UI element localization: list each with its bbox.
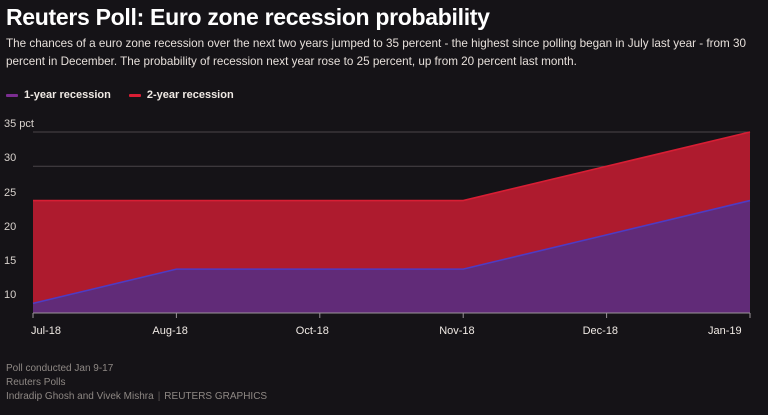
legend-label-2-year: 2-year recession xyxy=(147,89,234,101)
legend-swatch-1-year xyxy=(6,94,18,97)
chart-card: Reuters Poll: Euro zone recession probab… xyxy=(0,0,768,415)
footer-poll-date: Poll conducted Jan 9-17 xyxy=(6,362,267,376)
y-axis-tick-label: 15 xyxy=(4,255,16,267)
area-chart-svg xyxy=(0,112,768,322)
y-axis-tick-label: 35 pct xyxy=(4,118,34,130)
x-axis-tick-label: Nov-18 xyxy=(439,325,474,337)
y-axis-tick-label: 10 xyxy=(4,289,16,301)
legend-label-1-year: 1-year recession xyxy=(24,89,111,101)
x-axis-tick-label: Oct-18 xyxy=(296,325,329,337)
chart-subtitle: The chances of a euro zone recession ove… xyxy=(6,35,762,71)
footer-credit-line: Indradip Ghosh and Vivek Mishra|REUTERS … xyxy=(6,390,267,404)
x-axis-tick-label: Jul-18 xyxy=(31,325,61,337)
x-axis xyxy=(33,313,750,318)
footer-source: Reuters Polls xyxy=(6,376,267,390)
x-axis-tick-label: Aug-18 xyxy=(152,325,187,337)
y-axis-tick-label: 30 xyxy=(4,152,16,164)
legend-item-1-year[interactable]: 1-year recession xyxy=(6,89,111,101)
x-axis-tick-label: Jan-19 xyxy=(708,325,742,337)
footer-authors: Indradip Ghosh and Vivek Mishra xyxy=(6,391,154,402)
footer-separator: | xyxy=(154,391,165,402)
chart-footer: Poll conducted Jan 9-17 Reuters Polls In… xyxy=(6,362,267,404)
page-title: Reuters Poll: Euro zone recession probab… xyxy=(6,4,490,31)
chart-plot-area xyxy=(0,112,768,322)
x-axis-tick-label: Dec-18 xyxy=(583,325,618,337)
legend-item-2-year[interactable]: 2-year recession xyxy=(129,89,234,101)
footer-brand: REUTERS GRAPHICS xyxy=(164,391,267,402)
y-axis-tick-label: 25 xyxy=(4,187,16,199)
y-axis-tick-label: 20 xyxy=(4,221,16,233)
legend-swatch-2-year xyxy=(129,94,141,97)
chart-legend: 1-year recession 2-year recession xyxy=(6,89,234,101)
